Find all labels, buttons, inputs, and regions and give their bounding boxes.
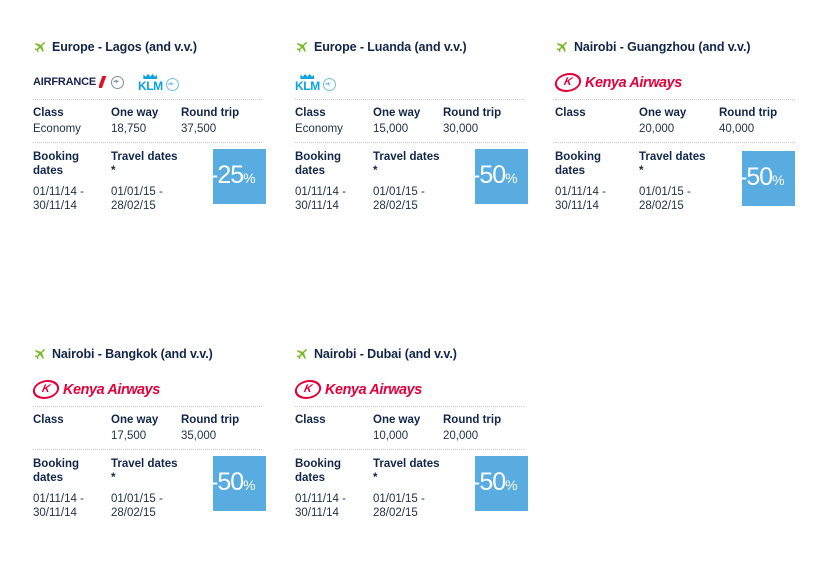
discount-value: -50 [213, 468, 243, 496]
column-header-one-way: One way [639, 100, 719, 120]
airline-logo-strip: K Kenya Airways [555, 67, 795, 99]
booking-dates-label: Bookingdates [295, 450, 373, 485]
class-value: Economy [33, 120, 111, 142]
column-header-round-trip: Round trip [181, 407, 261, 427]
skyteam-globe-icon [166, 78, 179, 91]
class-value [555, 120, 639, 142]
round-trip-value: 20,000 [443, 427, 523, 449]
fare-value-row: Economy 18,750 37,500 [33, 120, 262, 142]
kenya-airways-emblem-icon: K [553, 73, 583, 92]
class-value [33, 427, 111, 449]
kenya-airways-wordmark: Kenya Airways [63, 381, 160, 398]
airline-logo-strip: KLM [295, 67, 524, 99]
card-title: Nairobi - Guangzhou (and v.v.) [574, 40, 750, 54]
travel-dates-value: 01/01/15 -28/02/15 [111, 178, 181, 213]
discount-value: -50 [475, 468, 505, 496]
booking-dates-value: 01/11/14 -30/11/14 [295, 178, 373, 213]
column-header-class: Class [295, 100, 373, 120]
fare-header-row: Class One way Round trip [295, 407, 524, 427]
card-header: Europe - Luanda (and v.v.) [295, 38, 524, 56]
travel-dates-label: Travel dates* [639, 143, 719, 178]
travel-dates-value: 01/01/15 -28/02/15 [111, 485, 181, 520]
booking-dates-label: Bookingdates [295, 143, 373, 178]
travel-dates-label: Travel dates* [373, 143, 443, 178]
booking-dates-value: 01/11/14 -30/11/14 [33, 178, 111, 213]
kenya-airways-logo: K Kenya Airways [295, 380, 426, 399]
kenya-airways-wordmark: Kenya Airways [325, 381, 422, 398]
kenya-airways-emblem-icon: K [31, 380, 61, 399]
percent-symbol: % [505, 477, 517, 493]
discount-badge: -50% [475, 456, 528, 511]
airplane-icon [295, 348, 308, 361]
one-way-value: 15,000 [373, 120, 443, 142]
promo-card-nairobi-dubai[interactable]: Nairobi - Dubai (and v.v.) K Kenya Airwa… [295, 345, 524, 520]
kenya-airways-wordmark: Kenya Airways [585, 74, 682, 91]
column-header-round-trip: Round trip [181, 100, 261, 120]
column-header-class: Class [33, 100, 111, 120]
card-title: Nairobi - Dubai (and v.v.) [314, 347, 457, 361]
percent-symbol: % [505, 170, 517, 186]
klm-wordmark: KLM [138, 80, 163, 92]
fare-header-row: Class One way Round trip [555, 100, 795, 120]
booking-dates-value: 01/11/14 -30/11/14 [33, 485, 111, 520]
card-header: Nairobi - Guangzhou (and v.v.) [555, 38, 795, 56]
travel-dates-value: 01/01/15 -28/02/15 [373, 178, 443, 213]
travel-dates-value: 01/01/15 -28/02/15 [373, 485, 443, 520]
promo-card-nairobi-guangzhou[interactable]: Nairobi - Guangzhou (and v.v.) K Kenya A… [555, 38, 795, 213]
booking-dates-label: Bookingdates [33, 450, 111, 485]
discount-badge: -50% [742, 151, 795, 206]
airline-logo-strip: K Kenya Airways [33, 374, 262, 406]
travel-dates-label: Travel dates* [111, 450, 181, 485]
discount-value: -25 [213, 161, 243, 189]
airplane-icon [555, 41, 568, 54]
airplane-icon [33, 41, 46, 54]
card-title: Nairobi - Bangkok (and v.v.) [52, 347, 213, 361]
booking-dates-label: Bookingdates [555, 143, 639, 178]
promo-card-europe-luanda[interactable]: Europe - Luanda (and v.v.) KLM Class One… [295, 38, 524, 213]
skyteam-globe-icon [111, 76, 124, 89]
percent-symbol: % [243, 170, 255, 186]
travel-dates-label: Travel dates* [373, 450, 443, 485]
one-way-value: 10,000 [373, 427, 443, 449]
airline-logo-strip: AIRFRANCE KLM [33, 67, 262, 99]
column-header-class: Class [33, 407, 111, 427]
class-value [295, 427, 373, 449]
dates-row: Bookingdates 01/11/14 -30/11/14 Travel d… [555, 143, 795, 213]
column-header-one-way: One way [373, 100, 443, 120]
percent-symbol: % [772, 172, 784, 188]
kenya-airways-logo: K Kenya Airways [33, 380, 164, 399]
fare-value-row: 20,000 40,000 [555, 120, 795, 142]
class-value: Economy [295, 120, 373, 142]
crown-icon [300, 72, 314, 79]
promo-card-nairobi-bangkok[interactable]: Nairobi - Bangkok (and v.v.) K Kenya Air… [33, 345, 262, 520]
promo-card-europe-lagos[interactable]: Europe - Lagos (and v.v.) AIRFRANCE KLM … [33, 38, 262, 213]
booking-dates-label: Bookingdates [33, 143, 111, 178]
airplane-icon [295, 41, 308, 54]
column-header-class: Class [555, 100, 639, 120]
crown-icon [143, 72, 157, 79]
discount-value: -50 [475, 161, 505, 189]
round-trip-value: 30,000 [443, 120, 523, 142]
column-header-class: Class [295, 407, 373, 427]
fare-value-row: 10,000 20,000 [295, 427, 524, 449]
card-header: Nairobi - Dubai (and v.v.) [295, 345, 524, 363]
fare-value-row: Economy 15,000 30,000 [295, 120, 524, 142]
column-header-round-trip: Round trip [719, 100, 795, 120]
klm-wordmark: KLM [295, 80, 320, 92]
discount-badge: -50% [213, 456, 266, 511]
dates-row: Bookingdates 01/11/14 -30/11/14 Travel d… [33, 143, 262, 213]
booking-dates-value: 01/11/14 -30/11/14 [555, 178, 639, 213]
airline-logo-strip: K Kenya Airways [295, 374, 524, 406]
dates-row: Bookingdates 01/11/14 -30/11/14 Travel d… [295, 143, 524, 213]
column-header-one-way: One way [111, 407, 181, 427]
round-trip-value: 37,500 [181, 120, 261, 142]
fare-header-row: Class One way Round trip [33, 100, 262, 120]
airfrance-wordmark: AIRFRANCE [33, 76, 96, 88]
column-header-one-way: One way [111, 100, 181, 120]
klm-logo: KLM [295, 72, 336, 92]
one-way-value: 18,750 [111, 120, 181, 142]
dates-row: Bookingdates 01/11/14 -30/11/14 Travel d… [295, 450, 524, 520]
card-header: Nairobi - Bangkok (and v.v.) [33, 345, 262, 363]
travel-dates-label: Travel dates* [111, 143, 181, 178]
airfrance-logo: AIRFRANCE [33, 76, 124, 89]
klm-logo: KLM [138, 72, 179, 92]
airfrance-slash-icon [99, 76, 108, 88]
booking-dates-value: 01/11/14 -30/11/14 [295, 485, 373, 520]
kenya-airways-emblem-icon: K [293, 380, 323, 399]
card-title: Europe - Lagos (and v.v.) [52, 40, 197, 54]
discount-badge: -25% [213, 149, 266, 204]
skyteam-globe-icon [323, 78, 336, 91]
round-trip-value: 35,000 [181, 427, 261, 449]
dates-row: Bookingdates 01/11/14 -30/11/14 Travel d… [33, 450, 262, 520]
airplane-icon [33, 348, 46, 361]
fare-header-row: Class One way Round trip [295, 100, 524, 120]
travel-dates-value: 01/01/15 -28/02/15 [639, 178, 719, 213]
percent-symbol: % [243, 477, 255, 493]
promo-card-grid: Europe - Lagos (and v.v.) AIRFRANCE KLM … [0, 0, 814, 574]
column-header-round-trip: Round trip [443, 407, 523, 427]
card-header: Europe - Lagos (and v.v.) [33, 38, 262, 56]
discount-badge: -50% [475, 149, 528, 204]
card-title: Europe - Luanda (and v.v.) [314, 40, 467, 54]
discount-value: -50 [742, 163, 772, 191]
column-header-round-trip: Round trip [443, 100, 523, 120]
one-way-value: 20,000 [639, 120, 719, 142]
round-trip-value: 40,000 [719, 120, 795, 142]
fare-header-row: Class One way Round trip [33, 407, 262, 427]
one-way-value: 17,500 [111, 427, 181, 449]
kenya-airways-logo: K Kenya Airways [555, 73, 686, 92]
fare-value-row: 17,500 35,000 [33, 427, 262, 449]
column-header-one-way: One way [373, 407, 443, 427]
